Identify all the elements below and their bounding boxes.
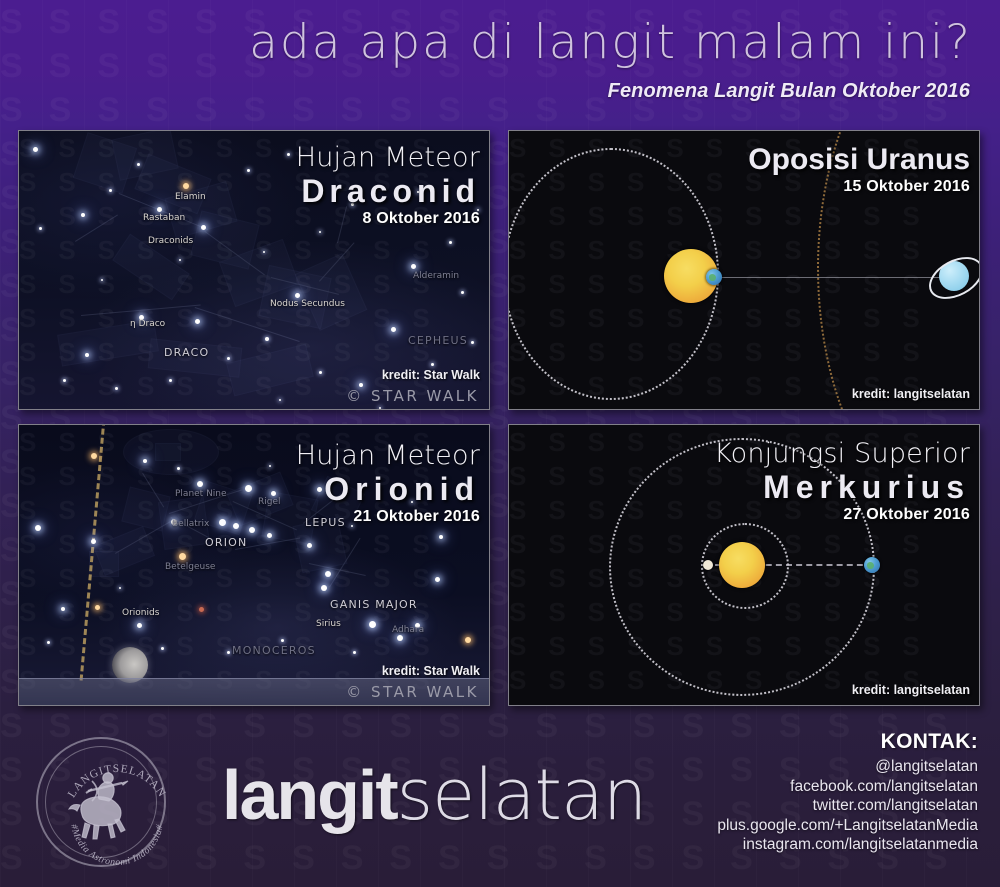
star-label: MONOCEROS	[232, 644, 316, 657]
poster-header: ada apa di langit malam ini? Fenomena La…	[0, 0, 1000, 122]
star-label: Rigel	[258, 497, 281, 507]
panel-title-line2: Orionid	[296, 471, 480, 507]
panel-credit: kredit: Star Walk	[382, 664, 480, 678]
panel-title-draconid: Hujan Meteor Draconid 8 Oktober 2016	[296, 143, 480, 229]
star-label: CEPHEUS	[408, 334, 468, 347]
page-subtitle: Fenomena Langit Bulan Oktober 2016	[608, 80, 970, 103]
panel-date: 15 Oktober 2016	[748, 177, 970, 197]
contact-line[interactable]: @langitselatan	[717, 757, 978, 777]
star-label: DRACO	[164, 346, 209, 359]
contact-lines: @langitselatanfacebook.com/langitselatan…	[717, 757, 978, 855]
opposition-sightline	[705, 277, 965, 278]
logo-arc-text: LANGITSELATAN #Media Astronomi Indonesia…	[52, 753, 182, 883]
panel-title-line1: Hujan Meteor	[296, 143, 480, 173]
star-label: Orionids	[122, 608, 159, 618]
contact-line[interactable]: twitter.com/langitselatan	[717, 796, 978, 816]
star-label: Rastaban	[143, 213, 185, 223]
panel-orionid[interactable]: SSSSSSSSSSSSSSSSSSSSSSSSSSSSSSSSSSSSSSSS…	[18, 424, 490, 706]
star-label: Nodus Secundus	[270, 299, 345, 309]
panel-draconid[interactable]: SSSSSSSSSSSSSSSSSSSSSSSSSSSSSSSSSSSSSSSS…	[18, 130, 490, 410]
panel-credit: kredit: langitselatan	[852, 387, 970, 401]
poster-root: SSSSSSSSSSSSSSSSSSSSSSSSSSSSSSSSSSSSSSSS…	[0, 0, 1000, 887]
logo-arc-bottom-text: #Media Astronomi Indonesia#	[68, 823, 165, 868]
star-label: Bellatrix	[172, 519, 209, 529]
panel-title-line2: Merkurius	[714, 469, 970, 505]
panel-oposisi-uranus[interactable]: SSSSSSSSSSSSSSSSSSSSSSSSSSSSSSSSSSSSSSSS…	[508, 130, 980, 410]
earth	[706, 269, 722, 285]
contact-line[interactable]: plus.google.com/+LangitselatanMedia	[717, 816, 978, 836]
page-title: ada apa di langit malam ini?	[249, 16, 972, 70]
panel-title-orionid: Hujan Meteor Orionid 21 Oktober 2016	[296, 441, 480, 527]
contact-line[interactable]: facebook.com/langitselatan	[717, 777, 978, 797]
star-label: Adhara	[392, 625, 424, 635]
star-label: Betelgeuse	[165, 562, 215, 572]
sun	[719, 542, 765, 588]
contact-heading: KONTAK:	[717, 730, 978, 754]
poster-footer: LANGITSELATAN #Media Astronomi Indonesia…	[0, 712, 1000, 887]
star-label: Sirius	[316, 619, 341, 629]
mercury-planet	[703, 560, 713, 570]
star-label: GANIS MAJOR	[330, 598, 418, 611]
star-label: Elamin	[175, 192, 206, 202]
panel-title-line1: Konjungsi Superior	[714, 439, 970, 469]
panel-title-line2: Draconid	[296, 173, 480, 209]
panel-credit: kredit: langitselatan	[852, 683, 970, 697]
star-label: Draconids	[148, 236, 193, 246]
panel-title-merkurius: Konjungsi Superior Merkurius 27 Oktober …	[714, 439, 970, 525]
panel-konjungsi-merkurius[interactable]: SSSSSSSSSSSSSSSSSSSSSSSSSSSSSSSSSSSSSSSS…	[508, 424, 980, 706]
contact-block: KONTAK: @langitselatanfacebook.com/langi…	[717, 730, 978, 855]
panel-date: 27 Oktober 2016	[714, 505, 970, 525]
star-label: LEPUS	[305, 516, 346, 529]
panel-credit: kredit: Star Walk	[382, 368, 480, 382]
panel-title-uranus: Oposisi Uranus 15 Oktober 2016	[748, 143, 970, 197]
brand-wordmark: langitselatan	[222, 760, 646, 830]
panel-title-line1: Oposisi Uranus	[748, 143, 970, 177]
star-label: ORION	[205, 536, 247, 549]
starwalk-watermark: © STAR WALK	[346, 387, 479, 405]
brand-light: selatan	[397, 754, 647, 836]
contact-line[interactable]: instagram.com/langitselatanmedia	[717, 835, 978, 855]
star-label: Alderamin	[413, 271, 459, 281]
panel-date: 8 Oktober 2016	[296, 209, 480, 229]
panel-title-line1: Hujan Meteor	[296, 441, 480, 471]
starwalk-watermark: © STAR WALK	[346, 683, 479, 701]
brand-bold: langit	[222, 756, 397, 834]
langitselatan-logo: LANGITSELATAN #Media Astronomi Indonesia…	[36, 737, 166, 867]
logo-arc-top-text: LANGITSELATAN	[66, 763, 168, 800]
star-label: η Draco	[130, 319, 165, 329]
earth	[864, 557, 880, 573]
star-label: Planet Nine	[175, 489, 227, 499]
